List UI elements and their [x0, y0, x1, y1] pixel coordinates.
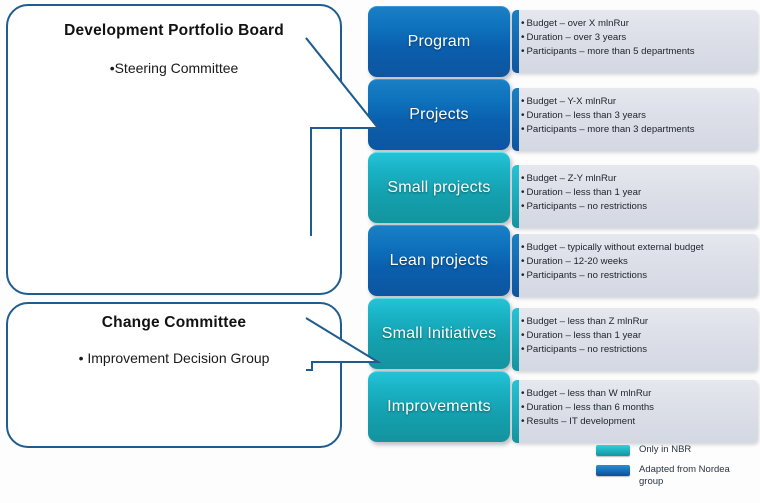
detail-item: Duration – 12-20 weeks: [521, 255, 752, 269]
detail-panel-improvements: Budget – less than W mlnRur Duration – l…: [512, 380, 758, 443]
callout-bullet-dpb: •Steering Committee: [6, 60, 342, 76]
detail-edge-program: [512, 10, 519, 73]
legend-swatch-teal-icon: [596, 445, 630, 456]
detail-item: Budget – less than W mlnRur: [521, 387, 752, 401]
legend-label-only-in-nbr: Only in NBR: [639, 444, 691, 456]
legend-row-adapted-from-nordea: Adapted from Nordea group: [596, 464, 760, 488]
category-chip-program[interactable]: Program: [368, 6, 510, 77]
category-chip-projects[interactable]: Projects: [368, 79, 510, 150]
detail-panel-small-projects: Budget – Z-Y mlnRur Duration – less than…: [512, 165, 758, 228]
detail-item: Duration – over 3 years: [521, 31, 752, 45]
detail-item: Participants – no restrictions: [521, 343, 752, 357]
legend-swatch-blue-icon: [596, 465, 630, 476]
detail-item: Budget – typically without external budg…: [521, 241, 752, 255]
detail-item: Budget – Z-Y mlnRur: [521, 172, 752, 186]
callout-title-cc: Change Committee: [6, 314, 342, 332]
legend-row-only-in-nbr: Only in NBR: [596, 444, 760, 456]
detail-item: Participants – no restrictions: [521, 200, 752, 214]
detail-edge-projects: [512, 88, 519, 151]
callout-development-portfolio-board[interactable]: Development Portfolio Board •Steering Co…: [6, 4, 342, 295]
detail-item: Participants – no restrictions: [521, 269, 752, 283]
detail-item: Duration – less than 6 months: [521, 401, 752, 415]
category-chip-small-initiatives[interactable]: Small Initiatives: [368, 298, 510, 369]
detail-edge-small-initiatives: [512, 308, 519, 371]
detail-panel-lean-projects: Budget – typically without external budg…: [512, 234, 758, 297]
callout-bullet-cc: • Improvement Decision Group: [6, 350, 342, 366]
detail-edge-improvements: [512, 380, 519, 443]
detail-item: Results – IT development: [521, 415, 752, 429]
callout-change-committee[interactable]: Change Committee • Improvement Decision …: [6, 302, 342, 448]
category-chip-lean-projects[interactable]: Lean projects: [368, 225, 510, 296]
detail-item: Duration – less than 3 years: [521, 109, 752, 123]
legend: Only in NBR Adapted from Nordea group: [596, 444, 760, 496]
callout-title-dpb: Development Portfolio Board: [6, 22, 342, 40]
category-chip-small-projects[interactable]: Small projects: [368, 152, 510, 223]
detail-item: Duration – less than 1 year: [521, 186, 752, 200]
detail-item: Budget – over X mlnRur: [521, 17, 752, 31]
detail-item: Budget – less than Z mlnRur: [521, 315, 752, 329]
detail-edge-small-projects: [512, 165, 519, 228]
detail-item: Budget – Y-X mlnRur: [521, 95, 752, 109]
category-chip-improvements[interactable]: Improvements: [368, 371, 510, 442]
detail-panel-projects: Budget – Y-X mlnRur Duration – less than…: [512, 88, 758, 151]
detail-item: Duration – less than 1 year: [521, 329, 752, 343]
detail-item: Participants – more than 3 departments: [521, 123, 752, 137]
detail-item: Participants – more than 5 departments: [521, 45, 752, 59]
detail-edge-lean-projects: [512, 234, 519, 297]
legend-label-adapted-from-nordea: Adapted from Nordea group: [639, 464, 751, 488]
detail-panel-program: Budget – over X mlnRur Duration – over 3…: [512, 10, 758, 73]
detail-panel-small-initiatives: Budget – less than Z mlnRur Duration – l…: [512, 308, 758, 371]
